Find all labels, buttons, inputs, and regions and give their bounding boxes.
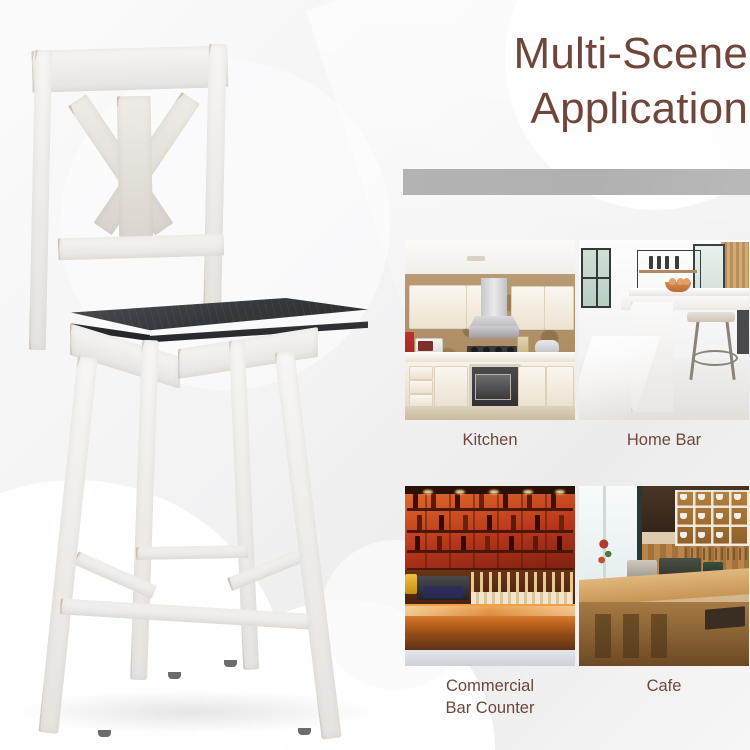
stool-leg-front-right (274, 350, 341, 740)
scene-cell-kitchen: Kitchen (405, 240, 575, 484)
stool-foot-cap (298, 728, 311, 735)
product-image-bar-stool (10, 40, 390, 740)
stool-foot-cap (168, 672, 181, 679)
scene-caption-home-bar: Home Bar (579, 420, 749, 484)
scene-cell-home-bar: Home Bar (579, 240, 749, 484)
caption-line-1: Home Bar (627, 431, 701, 449)
scene-cell-commercial-bar-counter: Commercial Bar Counter (405, 486, 575, 730)
page-title: Multi-Scene Application (404, 26, 750, 137)
stool-back-center-slat (117, 96, 154, 247)
caption-line-2: Bar Counter (405, 698, 575, 720)
scene-photo-kitchen (405, 240, 575, 420)
stool-footrest-front (60, 598, 311, 629)
stool-leg-back-left (130, 340, 159, 680)
caption-line-1: Kitchen (462, 431, 517, 449)
stool-back-post-left (29, 50, 52, 350)
scene-photo-grid: Kitchen (405, 240, 749, 730)
caption-line-1: Commercial (446, 677, 534, 695)
scene-photo-commercial-bar-counter (405, 486, 575, 666)
stool-foot-cap (224, 660, 237, 667)
scene-photo-home-bar (579, 240, 749, 420)
stool-stretcher-back (136, 545, 248, 560)
promo-right-panel: Multi-Scene Application (398, 0, 750, 750)
headline-line-2: Application (404, 81, 748, 136)
title-divider-bar (403, 169, 750, 195)
scene-row-top: Kitchen (405, 240, 749, 484)
product-feature-banner: Multi-Scene Application (0, 0, 750, 750)
scene-caption-cafe: Cafe (579, 666, 749, 730)
scene-caption-kitchen: Kitchen (405, 420, 575, 484)
stool-back-top-rail (31, 45, 228, 92)
scene-caption-commercial-bar-counter: Commercial Bar Counter (405, 666, 575, 730)
caption-line-1: Cafe (647, 677, 682, 695)
stool-foot-cap (98, 730, 111, 737)
scene-row-bottom: Commercial Bar Counter (405, 486, 749, 730)
scene-photo-cafe (579, 486, 749, 666)
stool-leg-front-left (38, 356, 97, 734)
headline-line-1: Multi-Scene (513, 29, 748, 78)
stool-back-bottom-rail (58, 234, 225, 261)
scene-cell-cafe: Cafe (579, 486, 749, 730)
